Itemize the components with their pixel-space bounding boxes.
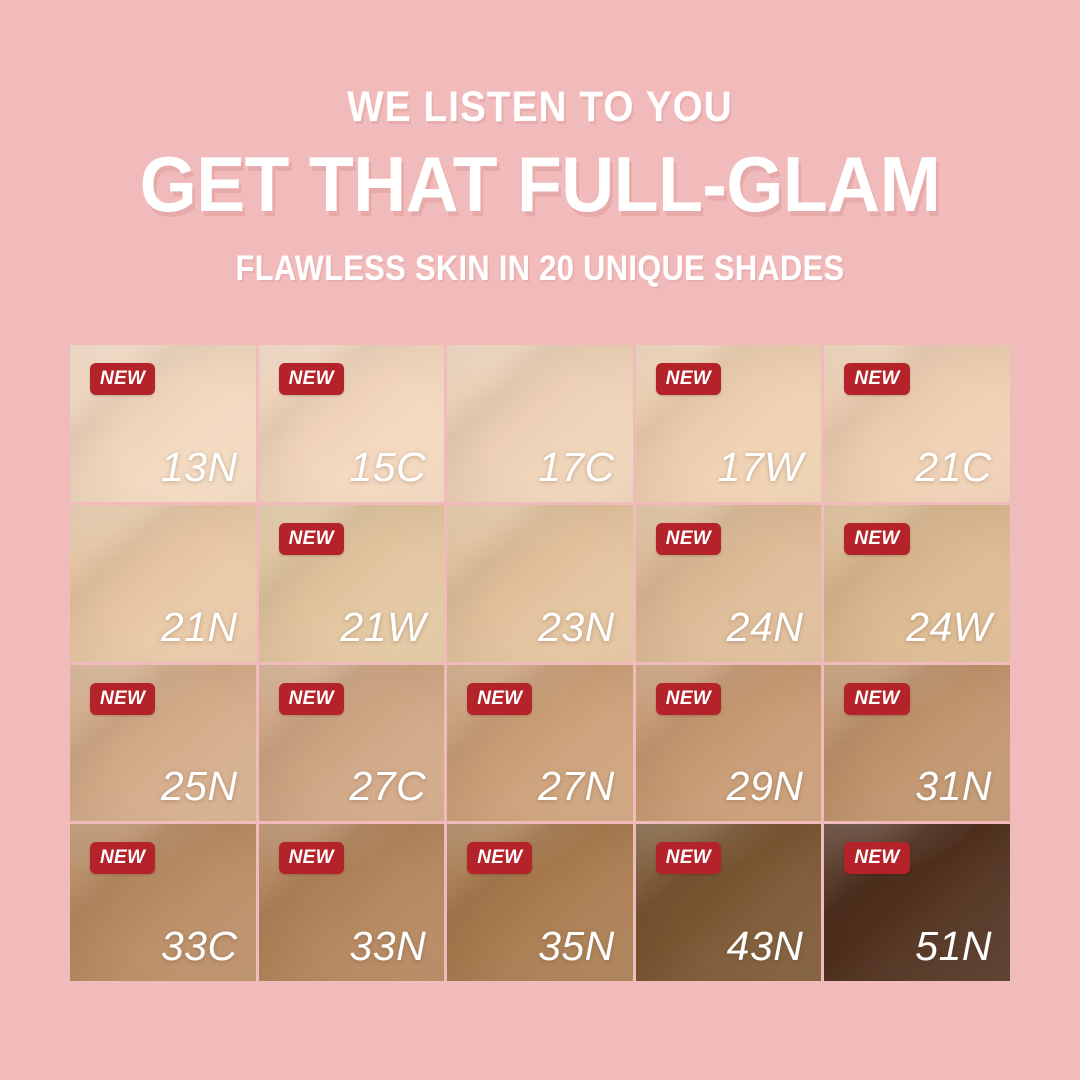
shade-code-label: 43N [727, 926, 804, 967]
shade-swatch-27c[interactable]: NEW27C [259, 665, 445, 822]
new-badge: NEW [844, 523, 909, 555]
swatch-highlight-smear [447, 505, 628, 579]
new-badge: NEW [844, 842, 909, 874]
shade-swatch-43n[interactable]: NEW43N [636, 824, 822, 981]
shade-code-label: 31N [915, 766, 992, 807]
shade-code-label: 25N [161, 766, 238, 807]
new-badge: NEW [90, 842, 155, 874]
shade-code-label: 24N [727, 607, 804, 648]
shade-swatch-17c[interactable]: NEW17C [447, 345, 633, 502]
shade-code-label: 17C [538, 447, 615, 488]
shade-code-label: 24W [906, 607, 992, 648]
shade-swatch-33n[interactable]: NEW33N [259, 824, 445, 981]
new-badge: NEW [656, 523, 721, 555]
new-badge: NEW [279, 842, 344, 874]
new-badge: NEW [656, 363, 721, 395]
new-badge: NEW [279, 523, 344, 555]
shade-code-label: 27N [538, 766, 615, 807]
new-badge: NEW [844, 363, 909, 395]
shade-swatch-35n[interactable]: NEW35N [447, 824, 633, 981]
shade-code-label: 33N [349, 926, 426, 967]
shade-swatch-17w[interactable]: NEW17W [636, 345, 822, 502]
shade-swatch-51n[interactable]: NEW51N [824, 824, 1010, 981]
shade-swatch-29n[interactable]: NEW29N [636, 665, 822, 822]
shade-code-label: 51N [915, 926, 992, 967]
new-badge: NEW [279, 363, 344, 395]
shade-code-label: 29N [727, 766, 804, 807]
shade-code-label: 21W [340, 607, 426, 648]
shade-swatch-15c[interactable]: NEW15C [259, 345, 445, 502]
shade-swatch-27n[interactable]: NEW27N [447, 665, 633, 822]
shade-code-label: 13N [161, 447, 238, 488]
shade-swatch-21n[interactable]: NEW21N [70, 505, 256, 662]
new-badge: NEW [467, 842, 532, 874]
shade-code-label: 35N [538, 926, 615, 967]
swatch-highlight-smear [447, 345, 628, 419]
new-badge: NEW [656, 842, 721, 874]
eyebrow-text: WE LISTEN TO YOU [54, 86, 1026, 129]
new-badge: NEW [656, 683, 721, 715]
shade-swatch-13n[interactable]: NEW13N [70, 345, 256, 502]
shade-swatch-21c[interactable]: NEW21C [824, 345, 1010, 502]
shade-swatch-25n[interactable]: NEW25N [70, 665, 256, 822]
new-badge: NEW [844, 683, 909, 715]
new-badge: NEW [279, 683, 344, 715]
shade-swatch-grid: NEW13NNEW15CNEW17CNEW17WNEW21CNEW21NNEW2… [70, 345, 1010, 981]
swatch-highlight-smear [70, 505, 251, 579]
promo-header: WE LISTEN TO YOU GET THAT FULL-GLAM FLAW… [0, 0, 1080, 286]
shade-code-label: 33C [161, 926, 238, 967]
subtitle-text: FLAWLESS SKIN IN 20 UNIQUE SHADES [65, 251, 1015, 286]
shade-swatch-24w[interactable]: NEW24W [824, 505, 1010, 662]
page-title: GET THAT FULL-GLAM [32, 145, 1047, 223]
new-badge: NEW [90, 363, 155, 395]
shade-code-label: 17W [718, 447, 804, 488]
shade-code-label: 15C [349, 447, 426, 488]
shade-code-label: 27C [349, 766, 426, 807]
shade-code-label: 23N [538, 607, 615, 648]
shade-swatch-31n[interactable]: NEW31N [824, 665, 1010, 822]
shade-swatch-21w[interactable]: NEW21W [259, 505, 445, 662]
new-badge: NEW [467, 683, 532, 715]
shade-code-label: 21N [161, 607, 238, 648]
shade-swatch-33c[interactable]: NEW33C [70, 824, 256, 981]
shade-swatch-24n[interactable]: NEW24N [636, 505, 822, 662]
shade-code-label: 21C [915, 447, 992, 488]
shade-swatch-23n[interactable]: NEW23N [447, 505, 633, 662]
new-badge: NEW [90, 683, 155, 715]
